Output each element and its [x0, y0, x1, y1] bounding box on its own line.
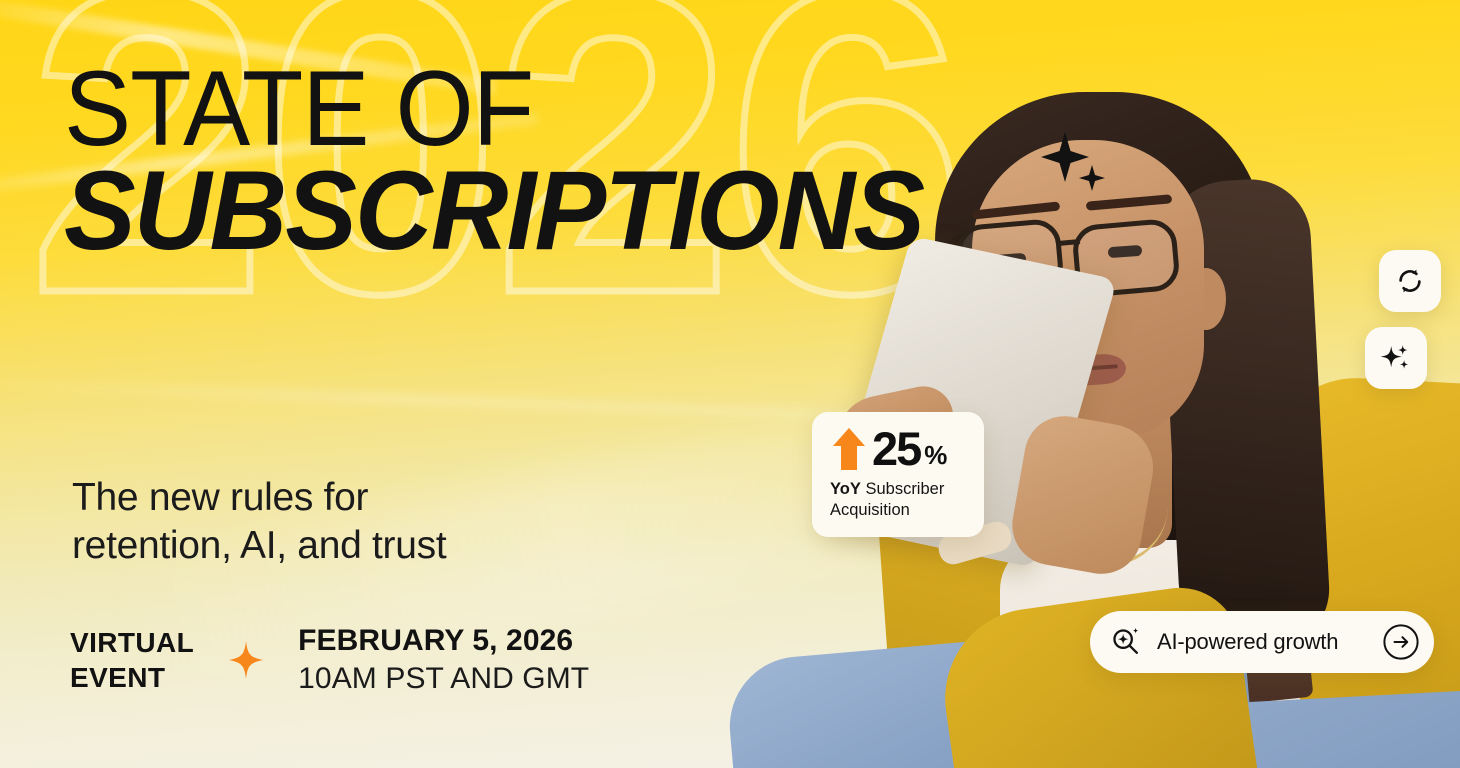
stat-value-row: 25 % [830, 426, 968, 472]
sparkles-button[interactable] [1365, 327, 1427, 389]
subheading: The new rules for retention, AI, and tru… [72, 474, 446, 569]
stat-value: 25 [872, 427, 920, 472]
hero-banner: 2026 STATE OF SUB [0, 0, 1460, 768]
stat-unit: % [924, 442, 947, 472]
stat-label-rest: Subscriber [861, 480, 944, 498]
subheading-line-1: The new rules for [72, 474, 446, 522]
ai-pill-label: AI-powered growth [1157, 629, 1382, 655]
event-type-line-1: VIRTUAL [70, 625, 194, 660]
event-when: FEBRUARY 5, 2026 10AM PST AND GMT [298, 622, 589, 699]
arrow-right-circle-icon[interactable] [1382, 623, 1420, 661]
stat-label: YoY Subscriber Acquisition [830, 479, 968, 521]
event-time: 10AM PST AND GMT [298, 660, 589, 698]
refresh-button[interactable] [1379, 250, 1441, 312]
title-line-1: STATE OF [64, 58, 905, 159]
ai-powered-growth-pill[interactable]: AI-powered growth [1090, 611, 1434, 673]
event-type: VIRTUAL EVENT [70, 625, 194, 696]
event-type-line-2: EVENT [70, 660, 194, 695]
four-point-star-icon [224, 641, 268, 679]
stat-label-bold: YoY [830, 480, 861, 498]
event-date: FEBRUARY 5, 2026 [298, 622, 589, 660]
refresh-icon [1395, 266, 1425, 296]
subheading-line-2: retention, AI, and trust [72, 522, 446, 570]
title-line-2: SUBSCRIPTIONS [64, 155, 923, 267]
arrow-up-icon [830, 426, 868, 472]
sparkles-icon [1380, 342, 1412, 374]
stat-label-line-2: Acquisition [830, 500, 968, 521]
stat-card-subscriber-acquisition: 25 % YoY Subscriber Acquisition [812, 412, 984, 537]
magnifier-sparkle-icon [1110, 626, 1142, 658]
event-details: VIRTUAL EVENT FEBRUARY 5, 2026 10AM PST … [70, 622, 589, 699]
page-title: STATE OF SUBSCRIPTIONS [64, 58, 959, 267]
